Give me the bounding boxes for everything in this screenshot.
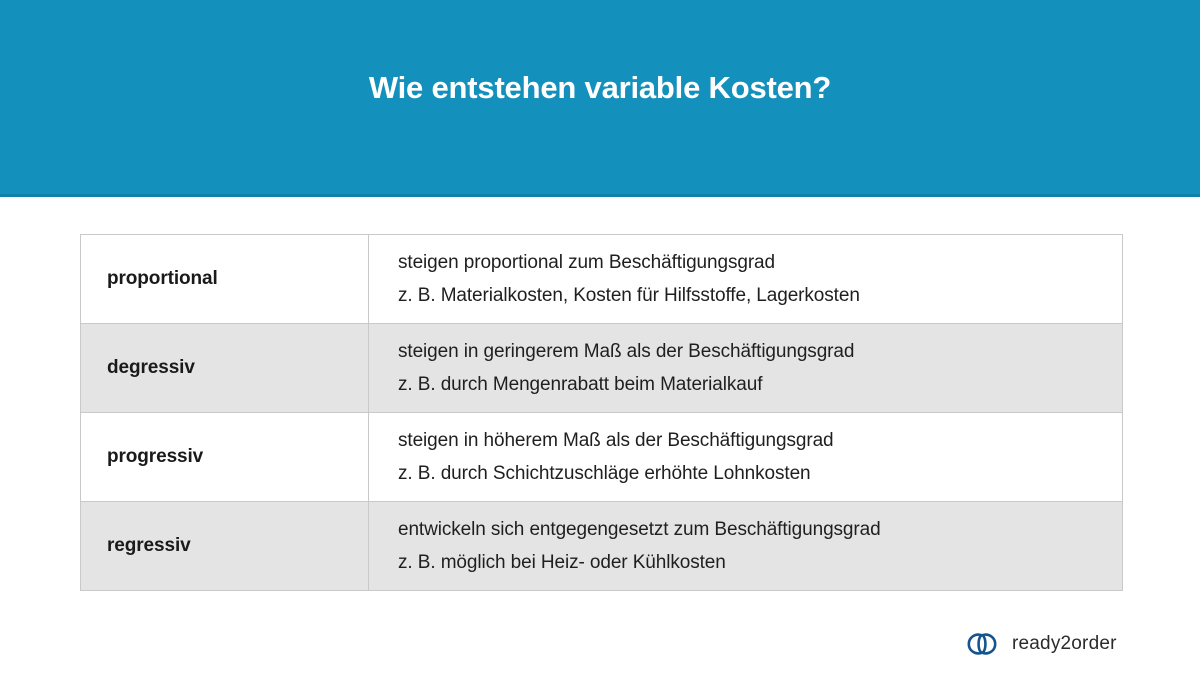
table-row: degressiv steigen in geringerem Maß als … [81, 324, 1123, 413]
cost-type-label: regressiv [81, 502, 369, 591]
cost-type-description: steigen in geringerem Maß als der Beschä… [369, 324, 1123, 413]
description-example: z. B. durch Mengenrabatt beim Materialka… [398, 368, 1108, 401]
description-line: steigen in höherem Maß als der Beschäfti… [398, 424, 1108, 457]
cost-type-description: entwickeln sich entgegengesetzt zum Besc… [369, 502, 1123, 591]
description-example: z. B. durch Schichtzuschläge erhöhte Loh… [398, 457, 1108, 490]
cost-type-label: proportional [81, 235, 369, 324]
table-body: proportional steigen proportional zum Be… [81, 235, 1123, 591]
brand-logo: ready2order [962, 629, 1117, 659]
description-line: steigen in geringerem Maß als der Beschä… [398, 335, 1108, 368]
header-band: Wie entstehen variable Kosten? [0, 0, 1200, 197]
cost-type-label: progressiv [81, 413, 369, 502]
table-row: proportional steigen proportional zum Be… [81, 235, 1123, 324]
cost-type-label: degressiv [81, 324, 369, 413]
description-example: z. B. möglich bei Heiz- oder Kühlkosten [398, 546, 1108, 579]
brand-name: ready2order [1012, 633, 1117, 655]
table-row: progressiv steigen in höherem Maß als de… [81, 413, 1123, 502]
description-example: z. B. Materialkosten, Kosten für Hilfsst… [398, 279, 1108, 312]
interlocking-rings-icon [962, 629, 1002, 659]
cost-type-description: steigen proportional zum Beschäftigungsg… [369, 235, 1123, 324]
cost-type-description: steigen in höherem Maß als der Beschäfti… [369, 413, 1123, 502]
variable-costs-table: proportional steigen proportional zum Be… [80, 234, 1123, 591]
description-line: entwickeln sich entgegengesetzt zum Besc… [398, 513, 1108, 546]
table-row: regressiv entwickeln sich entgegengesetz… [81, 502, 1123, 591]
page-title: Wie entstehen variable Kosten? [0, 70, 1200, 106]
description-line: steigen proportional zum Beschäftigungsg… [398, 246, 1108, 279]
